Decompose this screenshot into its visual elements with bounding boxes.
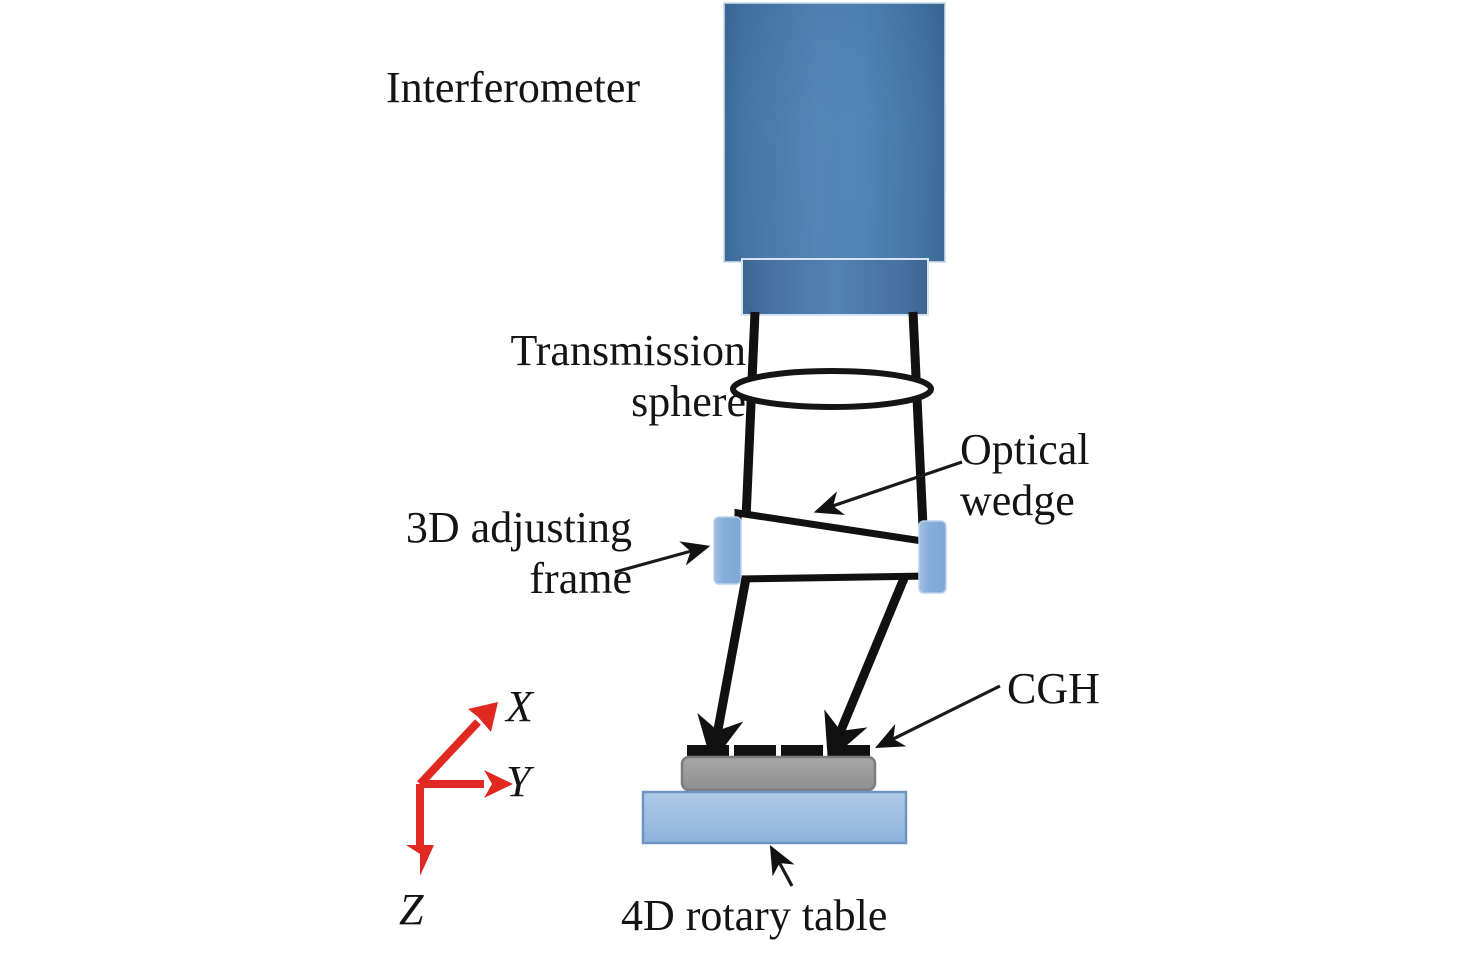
axis-z-arrowhead [406, 845, 434, 876]
coordinate-axes [406, 702, 513, 876]
optical-wedge [738, 513, 929, 579]
label-interferometer: Interferometer [386, 62, 640, 113]
leader-optical-wedge-arrow [818, 462, 962, 511]
rotary-table [643, 792, 906, 843]
beam-right-lower [839, 576, 905, 735]
adjusting-frame-left-block [714, 517, 741, 584]
cgh-substrate [682, 757, 875, 790]
diagram-canvas: Interferometer Transmission sphere 3D ad… [0, 0, 1476, 963]
interferometer-neck [742, 259, 928, 315]
interferometer-group [724, 3, 945, 315]
label-3d-adjusting-frame: 3D adjusting frame [300, 502, 632, 604]
transmission-sphere [733, 371, 931, 407]
label-4d-rotary-table: 4D rotary table [621, 890, 887, 941]
diagram-svg [0, 0, 1476, 963]
interferometer-body-sheen [724, 3, 945, 262]
label-optical-wedge: Optical wedge [960, 424, 1190, 526]
cgh-group [682, 745, 875, 790]
axis-label-x: X [506, 681, 533, 732]
beam-left-lower [717, 578, 746, 735]
label-transmission-sphere: Transmission sphere [398, 325, 746, 427]
beam-upper-group [746, 312, 923, 527]
beam-right-upper [913, 312, 923, 527]
axis-label-y: Y [506, 756, 530, 807]
label-cgh: CGH [1007, 663, 1100, 714]
leader-rotary-table-arrow [772, 849, 792, 886]
axis-label-z: Z [399, 884, 423, 935]
adjusting-frame-right-block [919, 521, 946, 593]
leader-cgh-arrow [879, 686, 1000, 746]
beam-lower-group [717, 576, 905, 735]
axis-x-line [420, 722, 478, 784]
beam-left-upper [746, 312, 755, 519]
